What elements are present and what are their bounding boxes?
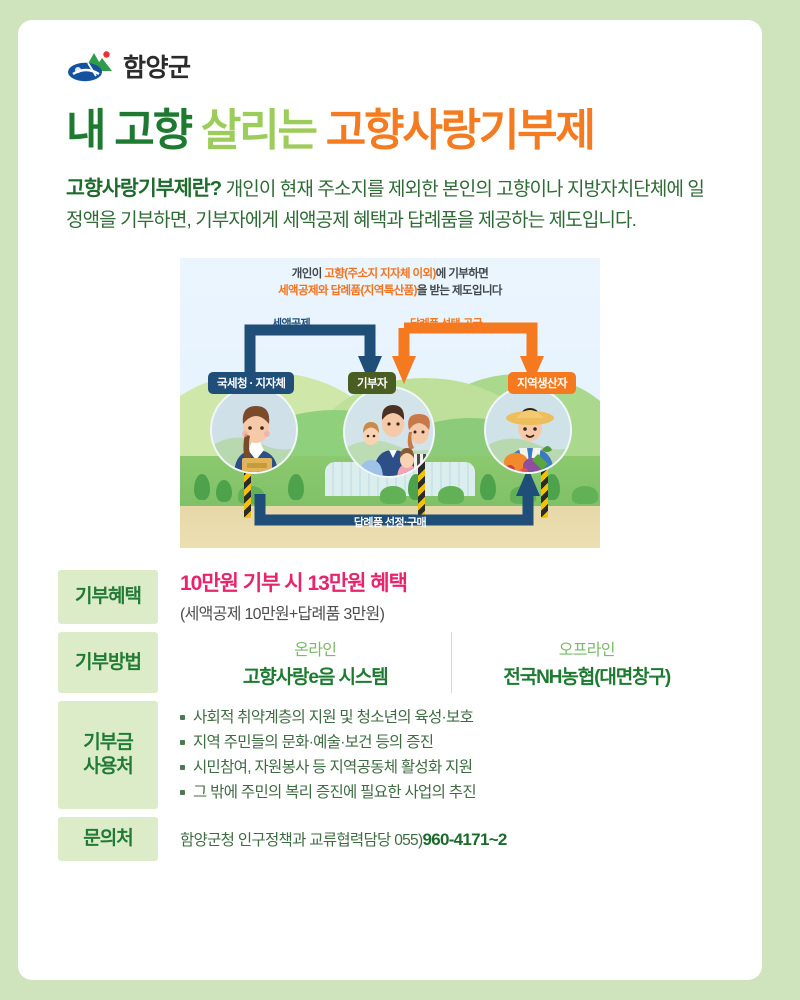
- list-item: 그 밖에 주민의 복리 증진에 필요한 사업의 추진: [180, 780, 476, 805]
- table-row-benefit: 기부혜택 10만원 기부 시 13만원 혜택 (세액공제 10만원+답례품 3만…: [58, 570, 722, 624]
- family-illustration-icon: [345, 388, 435, 478]
- row-body-contact: 함양군청 인구정책과 교류협력담당 055)960-4171~2: [158, 817, 722, 861]
- caption-line-1: 개인이 고향(주소지 지자체 이외)에 기부하면: [180, 266, 600, 283]
- caption-2-highlight: 세액공제와 답례품(지역특산품): [278, 285, 417, 297]
- method-name-offline: 전국NH농협(대면창구): [454, 662, 721, 689]
- tax-officer-portrait: [210, 386, 298, 474]
- gift-supply-arrow-path-right: [404, 328, 532, 358]
- info-table: 기부혜택 10만원 기부 시 13만원 혜택 (세액공제 10만원+답례품 3만…: [18, 548, 762, 861]
- row-body-benefit: 10만원 기부 시 13만원 혜택 (세액공제 10만원+답례품 3만원): [158, 570, 722, 624]
- infographic-caption: 개인이 고향(주소지 지자체 이외)에 기부하면 세액공제와 답례품(지역특산품…: [180, 266, 600, 301]
- row-label-benefit: 기부혜택: [58, 570, 158, 624]
- row-label-contact: 문의처: [58, 817, 158, 861]
- row-body-method: 온라인 고향사랑e음 시스템 오프라인 전국NH농협(대면창구): [158, 632, 722, 693]
- title-part-1: 내 고향: [66, 106, 191, 155]
- method-kind-online: 온라인: [182, 636, 449, 660]
- row-body-usage: 사회적 취약계층의 지원 및 청소년의 육성·보호 지역 주민들의 문화·예술·…: [158, 701, 722, 809]
- farmer-illustration-icon: [486, 388, 572, 474]
- list-item: 시민참여, 자원봉사 등 지역공동체 활성화 지원: [180, 755, 476, 780]
- title-part-3: 고향사랑기부제: [326, 106, 594, 155]
- method-option-online[interactable]: 온라인 고향사랑e음 시스템: [180, 632, 451, 693]
- contact-phone[interactable]: 960-4171~2: [422, 830, 506, 849]
- arrow-label-gift-supply: 답례품 선택·공급: [410, 315, 482, 331]
- contact-office: 함양군청 인구정책과 교류협력담당 055): [180, 832, 422, 849]
- scheme-infographic: 개인이 고향(주소지 지자체 이외)에 기부하면 세액공제와 답례품(지역특산품…: [180, 258, 600, 548]
- caption-2-post: 을 받는 제도입니다: [417, 285, 502, 297]
- hamyang-county-emblem-icon: [66, 49, 114, 83]
- method-kind-offline: 오프라인: [454, 636, 721, 660]
- page-title: 내 고향 살리는 고향사랑기부제: [18, 84, 762, 155]
- method-name-online: 고향사랑e음 시스템: [182, 662, 449, 689]
- table-row-contact: 문의처 함양군청 인구정책과 교류협력담당 055)960-4171~2: [58, 817, 722, 861]
- donor-family-portrait: [343, 386, 435, 478]
- row-label-method: 기부방법: [58, 632, 158, 693]
- node-tax-authority: 국세청 · 지자체: [208, 372, 294, 394]
- caption-line-2: 세액공제와 답례품(지역특산품)을 받는 제도입니다: [180, 283, 600, 300]
- title-part-2: 살리는: [201, 106, 316, 155]
- list-item: 사회적 취약계층의 지원 및 청소년의 육성·보호: [180, 705, 476, 730]
- row-label-usage-line1: 기부금: [83, 732, 132, 753]
- arrow-label-tax-credit: 세액공제: [272, 315, 310, 331]
- lead-question: 고향사랑기부제란?: [66, 177, 221, 200]
- caption-1-post: 에 기부하면: [436, 268, 489, 280]
- row-label-usage-line2: 사용처: [83, 756, 132, 777]
- row-label-usage: 기부금 사용처: [58, 701, 158, 809]
- poster-card: 함양군 내 고향 살리는 고향사랑기부제 고향사랑기부제란? 개인이 현재 주소…: [18, 20, 762, 980]
- caption-1-pre: 개인이: [292, 268, 325, 280]
- list-item: 지역 주민들의 문화·예술·보건 등의 증진: [180, 730, 476, 755]
- benefit-headline: 10만원 기부 시 13만원 혜택: [180, 570, 407, 597]
- lead-paragraph: 고향사랑기부제란? 개인이 현재 주소지를 제외한 본인의 고향이나 지방자치단…: [18, 155, 762, 235]
- table-row-usage: 기부금 사용처 사회적 취약계층의 지원 및 청소년의 육성·보호 지역 주민들…: [58, 701, 722, 809]
- county-name-label: 함양군: [123, 48, 191, 84]
- node-local-producer: 지역생산자: [508, 372, 576, 394]
- usage-bullet-list: 사회적 취약계층의 지원 및 청소년의 육성·보호 지역 주민들의 문화·예술·…: [180, 701, 476, 809]
- method-options: 온라인 고향사랑e음 시스템 오프라인 전국NH농협(대면창구): [180, 632, 722, 693]
- table-row-method: 기부방법 온라인 고향사랑e음 시스템 오프라인 전국NH농협(대면창구): [58, 632, 722, 693]
- arrow-label-gift-purchase: 답례품 선정·구매: [180, 514, 600, 530]
- method-option-offline[interactable]: 오프라인 전국NH농협(대면창구): [451, 632, 723, 693]
- node-donor: 기부자: [348, 372, 396, 394]
- benefit-detail: (세액공제 10만원+답례품 3만원): [180, 600, 407, 624]
- officer-illustration-icon: [212, 388, 298, 474]
- caption-1-highlight: 고향(주소지 지자체 이외): [324, 268, 435, 280]
- header-logo-row: 함양군: [18, 20, 762, 84]
- contact-text: 함양군청 인구정책과 교류협력담당 055)960-4171~2: [180, 828, 507, 850]
- local-farmer-portrait: [484, 386, 572, 474]
